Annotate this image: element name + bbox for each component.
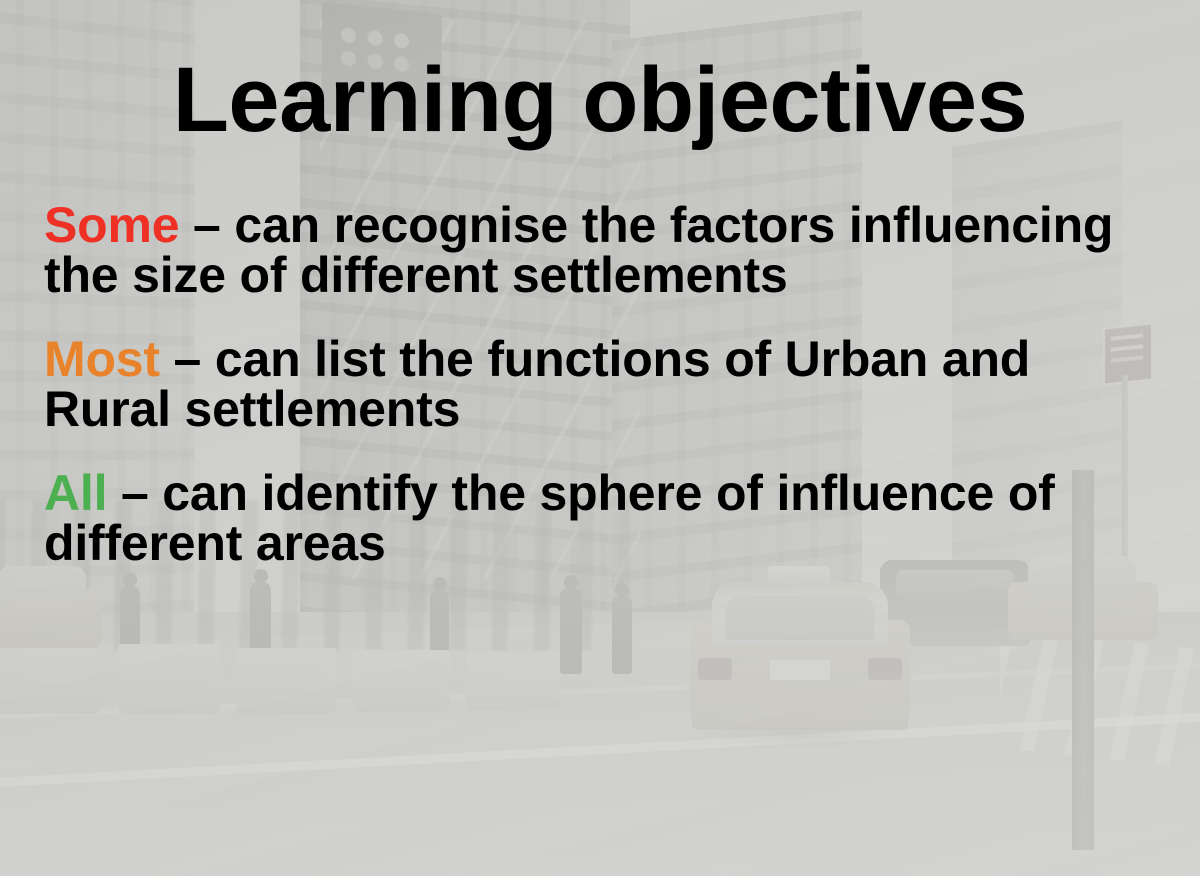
objective-keyword-all: All	[44, 465, 107, 521]
objective-item-most: Most – can list the functions of Urban a…	[44, 334, 1162, 434]
objective-item-all: All – can identify the sphere of influen…	[44, 468, 1162, 568]
slide-content: Learning objectives Some – can recognise…	[0, 0, 1200, 876]
objective-item-some: Some – can recognise the factors influen…	[44, 200, 1162, 300]
objective-text-all: can identify the sphere of influence of …	[44, 465, 1055, 571]
objective-keyword-most: Most	[44, 331, 160, 387]
slide: Learning objectives Some – can recognise…	[0, 0, 1200, 876]
objective-keyword-some: Some	[44, 197, 179, 253]
objective-separator: –	[179, 197, 234, 253]
objective-separator: –	[160, 331, 215, 387]
learning-objectives-list: Some – can recognise the factors influen…	[44, 200, 1162, 568]
page-title: Learning objectives	[0, 54, 1200, 146]
objective-separator: –	[107, 465, 162, 521]
